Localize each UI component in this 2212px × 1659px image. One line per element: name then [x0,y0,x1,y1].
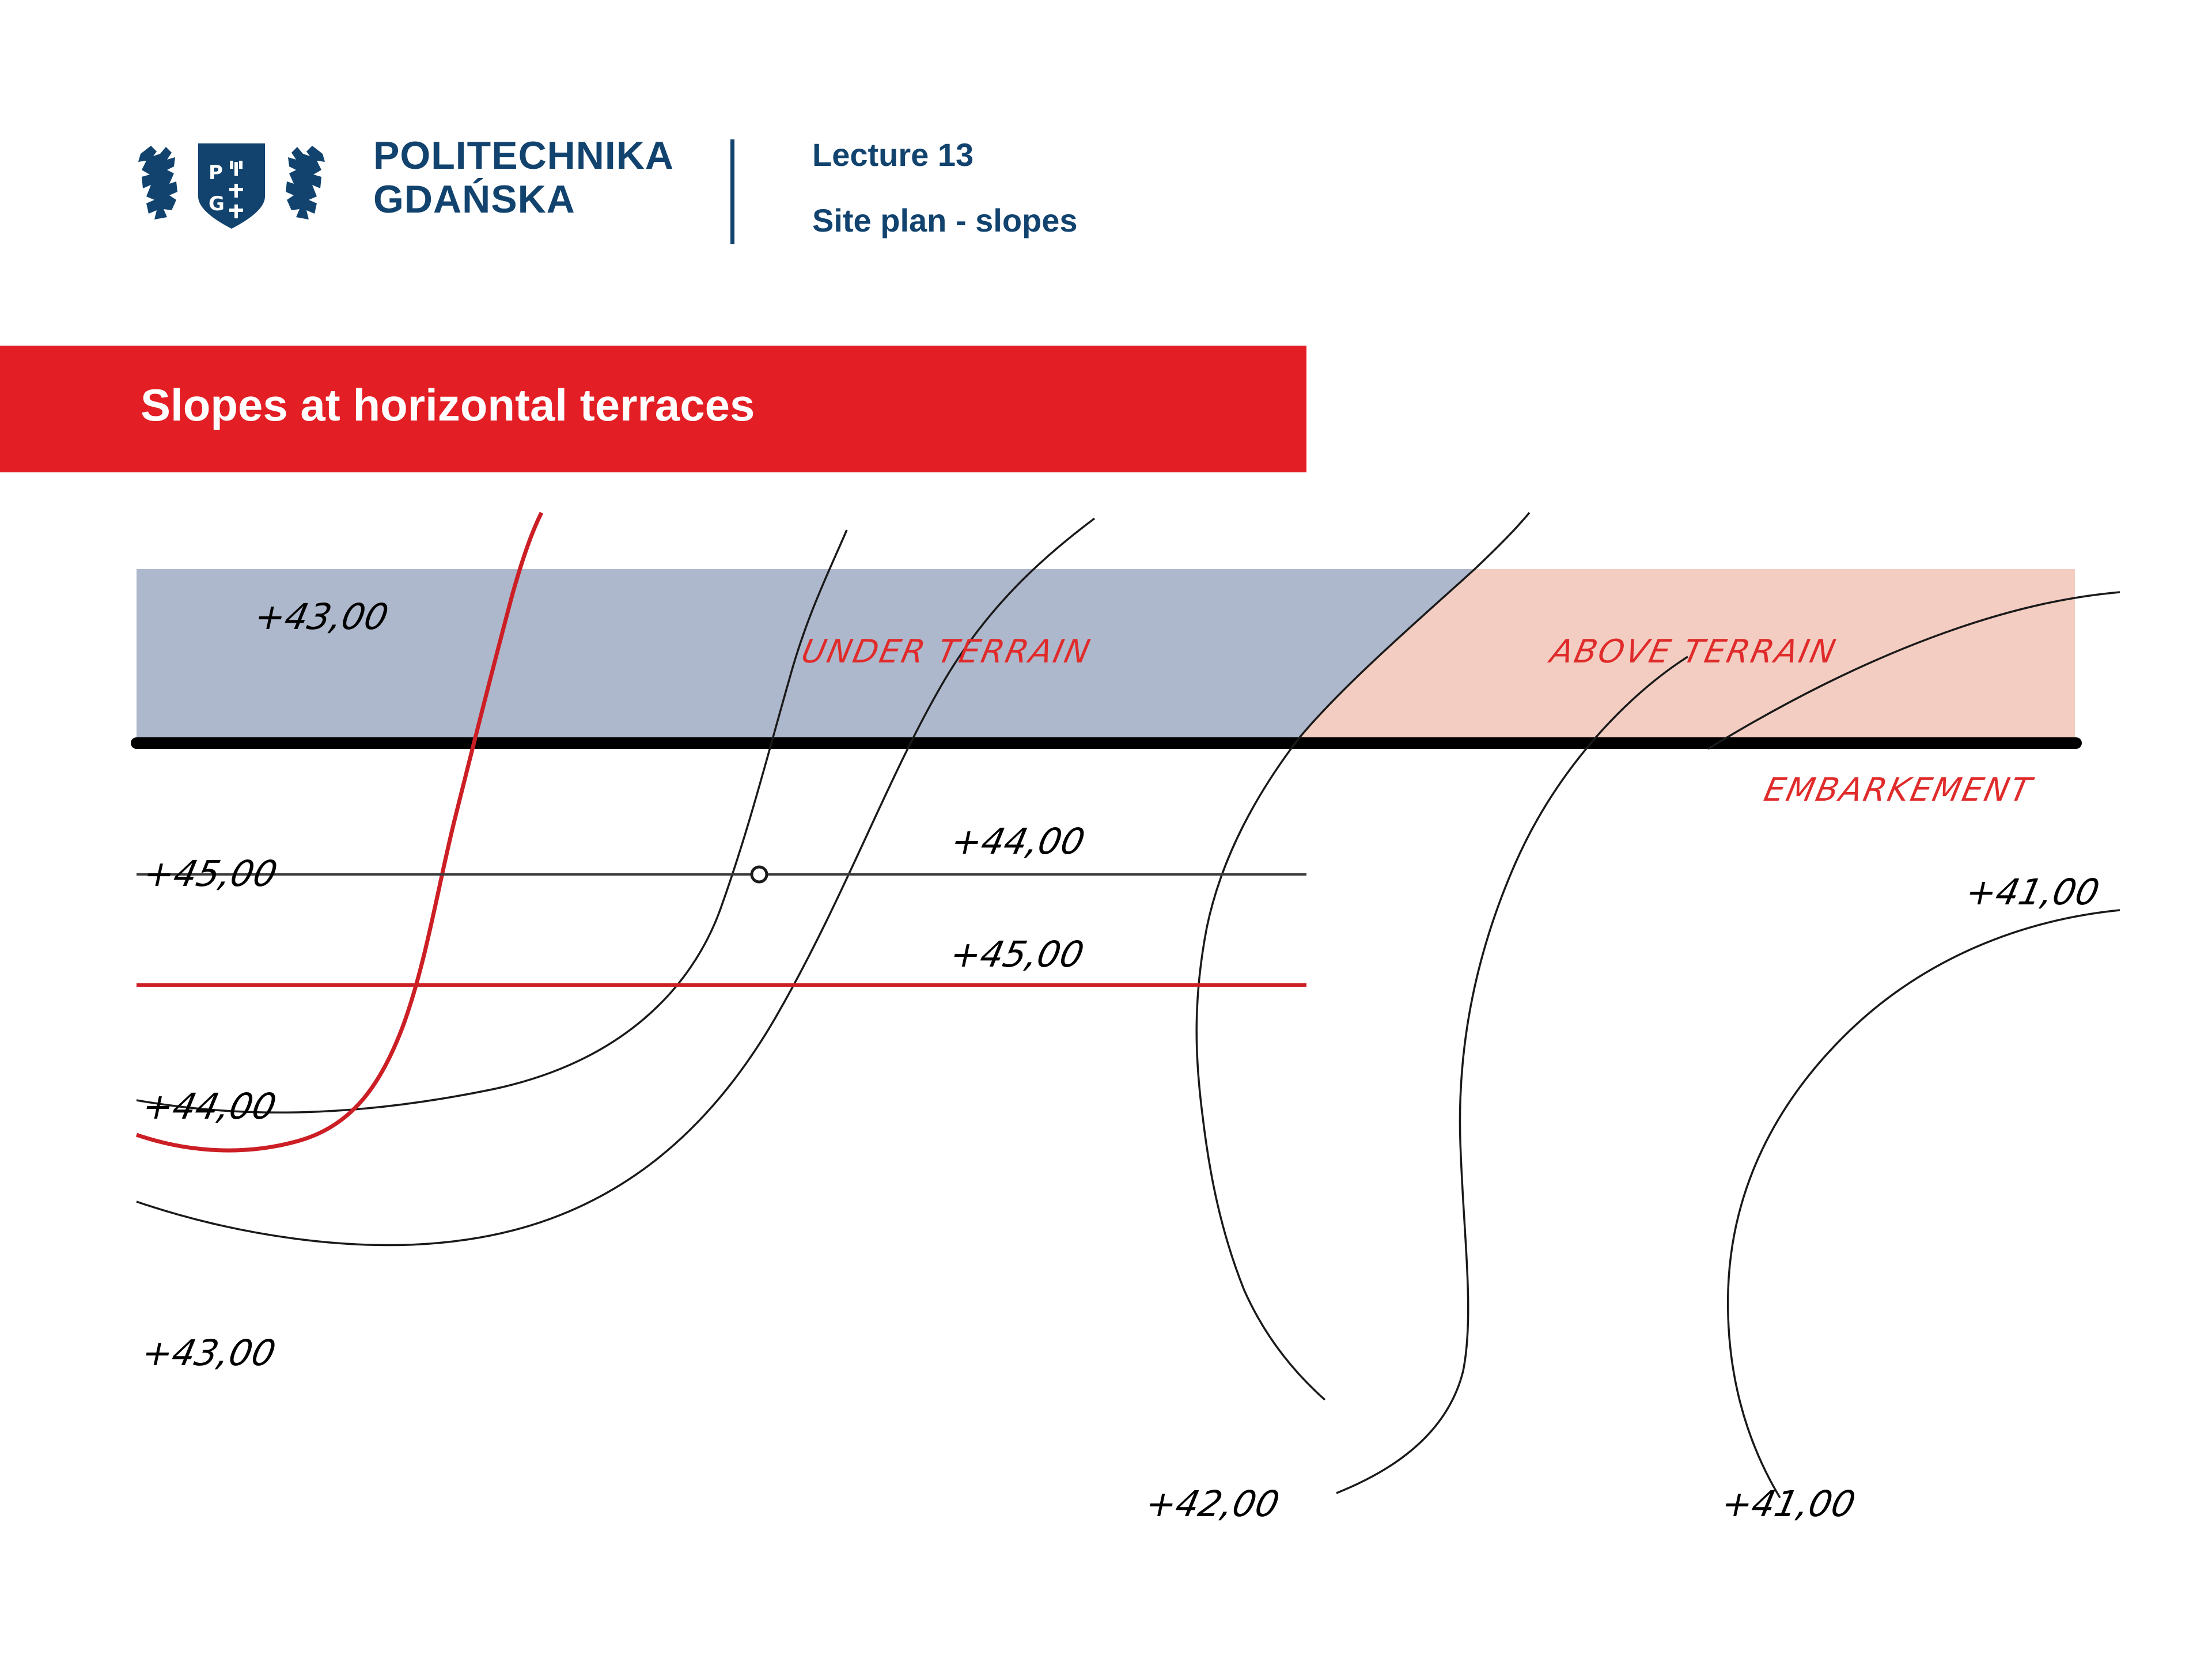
lecture-subtitle-label: Site plan - slopes [812,203,1078,238]
svg-text:G: G [209,192,225,215]
page-header: P G POLITECHNIKA GDAŃSKA Lecture 13 Site… [0,0,2212,300]
intersection-point-marker [752,867,767,882]
brand-line-2: GDAŃSKA [373,177,674,221]
contour-line-42 [1336,657,1688,1493]
elevation-label-mid-45: +45,00 [946,934,1088,975]
contour-line-43-boundary-lower [1196,740,1325,1400]
site-plan-slopes-diagram: UNDER TERRAIN ABOVE TERRAIN EMBARKEMENT … [0,507,2212,1659]
slide-title-bar: Slopes at horizontal terraces [0,346,1306,472]
zone-label-embarkement: EMBARKEMENT [1761,771,2037,809]
elevation-label-bottom-41: +41,00 [1718,1483,1859,1525]
brand-line-1: POLITECHNIKA [373,134,674,177]
elevation-label-terrace-43: +43,00 [251,596,392,638]
politechnika-gdanska-crest-icon: P G [134,124,329,236]
elevation-label-bottom-42: +42,00 [1142,1483,1283,1525]
zone-label-under-terrain: UNDER TERRAIN [798,633,1095,671]
svg-text:P: P [209,161,223,184]
lecture-number-label: Lecture 13 [812,137,1078,173]
zone-label-above-terrain: ABOVE TERRAIN [1545,633,1840,671]
lecture-info: Lecture 13 Site plan - slopes [812,137,1078,238]
elevation-label-left-43: +43,00 [138,1332,279,1374]
elevation-label-left-44: +44,00 [139,1086,280,1127]
contour-line-41-right [1728,910,2120,1498]
elevation-label-left-45: +45,00 [140,853,281,895]
slide-title: Slopes at horizontal terraces [141,379,755,431]
elevation-label-mid-44: +44,00 [948,821,1089,862]
elevation-label-right-41: +41,00 [1962,872,2103,913]
brand-wordmark: POLITECHNIKA GDAŃSKA [373,134,674,221]
header-divider [730,139,734,244]
